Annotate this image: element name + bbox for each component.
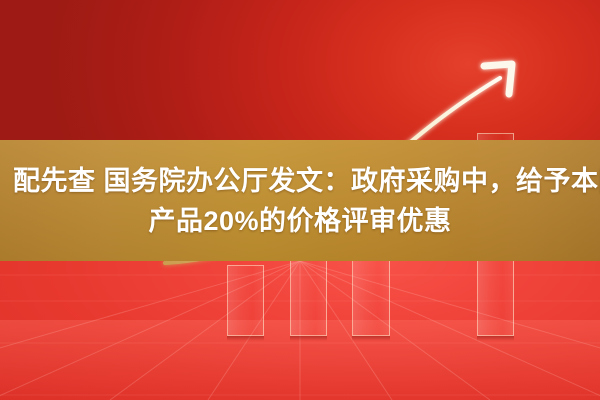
promo-poster: 配先查 国务院办公厅发文：政府采购中，给予本国 产品20%的价格评审优惠: [0, 0, 600, 400]
headline-line-1: 配先查 国务院办公厅发文：政府采购中，给予本国: [10, 161, 590, 201]
headline-line-2: 产品20%的价格评审优惠: [10, 201, 590, 241]
page-title: 配先查 国务院办公厅发文：政府采购中，给予本国 产品20%的价格评审优惠: [0, 140, 600, 261]
